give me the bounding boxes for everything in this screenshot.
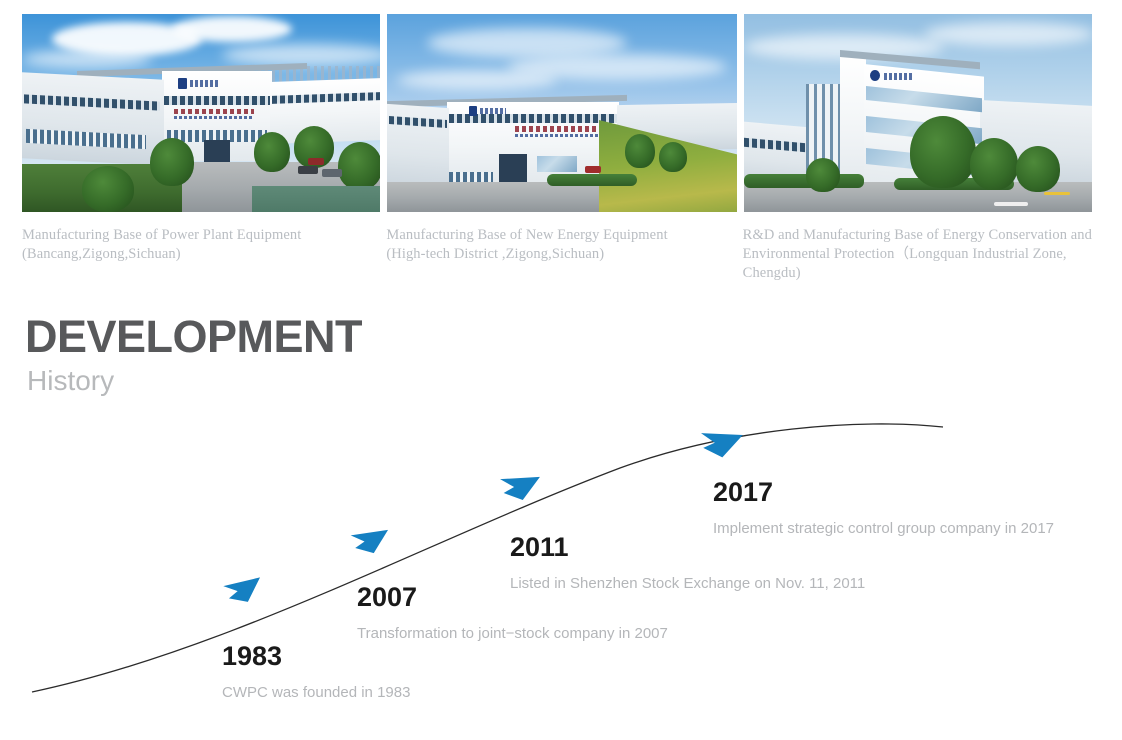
cloud-shape [924, 22, 1092, 46]
page-title: DEVELOPMENT [25, 312, 362, 362]
car [298, 166, 318, 174]
building-corner-edge [840, 56, 866, 188]
road-marking [994, 202, 1028, 206]
photo-manufacturing-base-power-plant-equipment [22, 14, 380, 212]
photo-captions: Manufacturing Base of Power Plant Equipm… [22, 226, 1092, 283]
slogan-sign [174, 109, 254, 114]
timeline-milestone-2011: 2011Listed in Shenzhen Stock Exchange on… [510, 532, 865, 594]
milestone-description: Listed in Shenzhen Stock Exchange on Nov… [510, 574, 865, 594]
caption-line: Manufacturing Base of Power Plant Equipm… [22, 226, 379, 245]
caption-line: Environmental Protection（Longquan Indust… [743, 245, 1092, 264]
company-logo-mark [469, 106, 477, 116]
photo-rd-manufacturing-base-energy-conservation [744, 14, 1092, 212]
facility-photo-strip [22, 14, 1092, 212]
development-history-timeline: 1983CWPC was founded in 19832007Transfor… [0, 400, 1122, 730]
road-marking [1044, 192, 1070, 195]
hedge [547, 174, 637, 186]
milestone-year: 1983 [222, 641, 410, 671]
company-logo-mark [870, 70, 880, 81]
caption-power-plant-equipment: Manufacturing Base of Power Plant Equipm… [22, 226, 379, 283]
milestone-year: 2017 [713, 477, 1054, 507]
building-entrance [499, 154, 527, 184]
car [322, 169, 342, 177]
tree [150, 138, 194, 186]
tree [1016, 146, 1060, 192]
section-heading: DEVELOPMENT History [25, 312, 362, 398]
page-subtitle: History [27, 364, 362, 398]
timeline-milestone-1983: 1983CWPC was founded in 1983 [222, 641, 410, 703]
company-name-sign [480, 108, 506, 114]
tree [659, 142, 687, 172]
company-logo-mark [178, 78, 187, 89]
caption-new-energy-equipment: Manufacturing Base of New Energy Equipme… [386, 226, 735, 283]
milestone-description: Transformation to joint−stock company in… [357, 624, 668, 644]
tree [970, 138, 1018, 190]
tree [254, 132, 290, 172]
caption-line: (High-tech District ,Zigong,Sichuan) [386, 245, 735, 264]
milestone-description: CWPC was founded in 1983 [222, 683, 410, 703]
tree [806, 158, 840, 192]
window-band [164, 96, 270, 105]
slogan-sign-sub [174, 116, 254, 119]
caption-line: R&D and Manufacturing Base of Energy Con… [743, 226, 1092, 245]
cloud-shape [172, 16, 292, 42]
caption-line: Manufacturing Base of New Energy Equipme… [386, 226, 735, 245]
hedge [744, 174, 864, 188]
slogan-sign [515, 126, 601, 132]
milestone-description: Implement strategic control group compan… [713, 519, 1054, 539]
company-name-sign [884, 73, 914, 80]
tree [82, 166, 134, 212]
window-glass [537, 156, 577, 172]
tree [625, 134, 655, 168]
cloud-shape [397, 70, 557, 90]
car [308, 158, 324, 165]
caption-energy-conservation: R&D and Manufacturing Base of Energy Con… [743, 226, 1092, 283]
building-facade [22, 72, 164, 165]
timeline-milestone-2017: 2017Implement strategic control group co… [713, 477, 1054, 539]
company-name-sign [190, 80, 218, 87]
photo-manufacturing-base-new-energy-equipment [387, 14, 737, 212]
caption-line: (Bancang,Zigong,Sichuan) [22, 245, 379, 264]
slogan-sign-sub [515, 134, 601, 137]
caption-line: Chengdu) [743, 264, 1092, 283]
car [585, 166, 601, 173]
sports-court [252, 186, 380, 212]
tree [338, 142, 380, 190]
cloud-shape [22, 50, 152, 68]
building-entrance [204, 140, 230, 164]
tree [910, 116, 976, 188]
